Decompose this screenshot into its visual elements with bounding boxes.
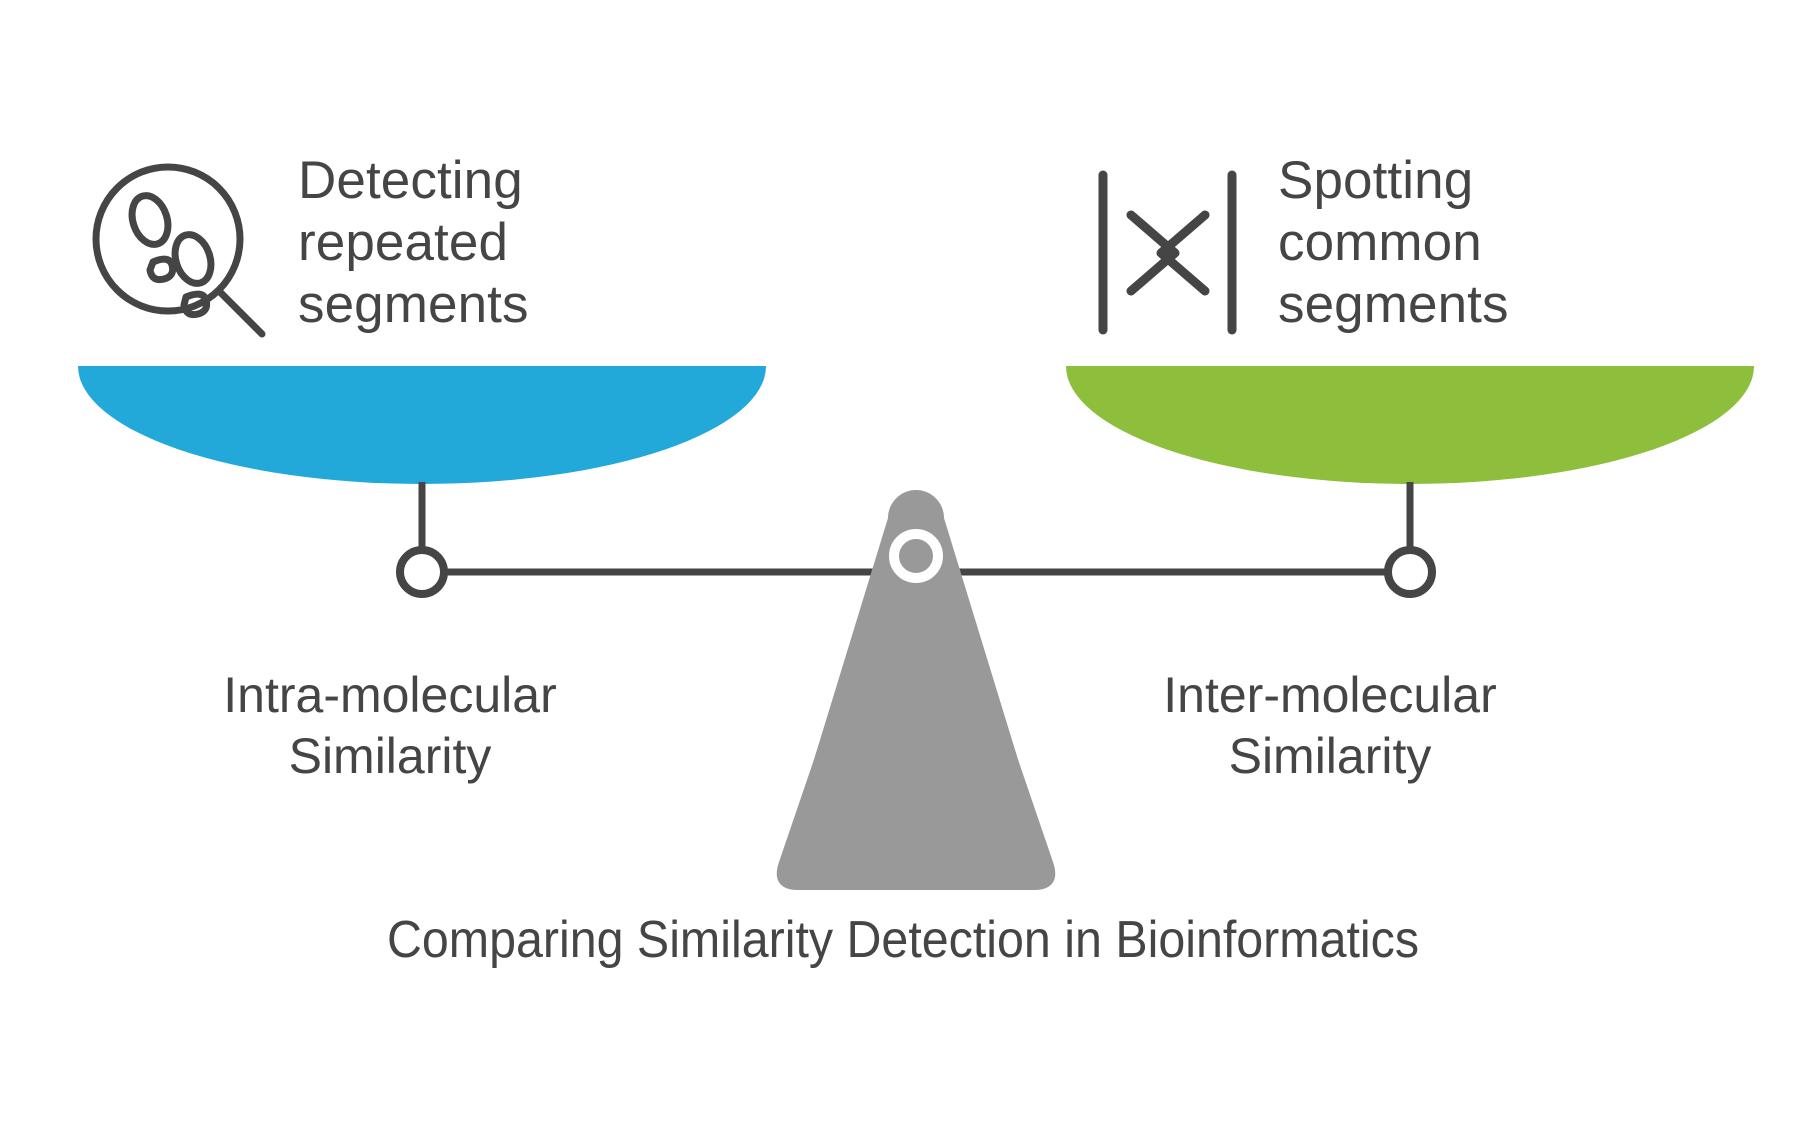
left-pan <box>78 366 766 484</box>
left-arm-label: Intra-molecular Similarity <box>70 665 710 787</box>
magnifier-cells-icon <box>96 167 262 334</box>
figure-canvas: Detecting repeated segments Spotting com… <box>0 0 1806 1122</box>
figure-caption: Comparing Similarity Detection in Bioinf… <box>63 910 1743 970</box>
alignment-brackets-icon <box>1103 175 1232 330</box>
left-pivot-circle <box>400 550 444 594</box>
right-arm-label: Inter-molecular Similarity <box>1010 665 1650 787</box>
right-pan <box>1066 366 1754 484</box>
left-pan-caption: Detecting repeated segments <box>298 150 628 336</box>
right-pan-caption: Spotting common segments <box>1278 150 1608 336</box>
right-pivot-circle <box>1388 550 1432 594</box>
